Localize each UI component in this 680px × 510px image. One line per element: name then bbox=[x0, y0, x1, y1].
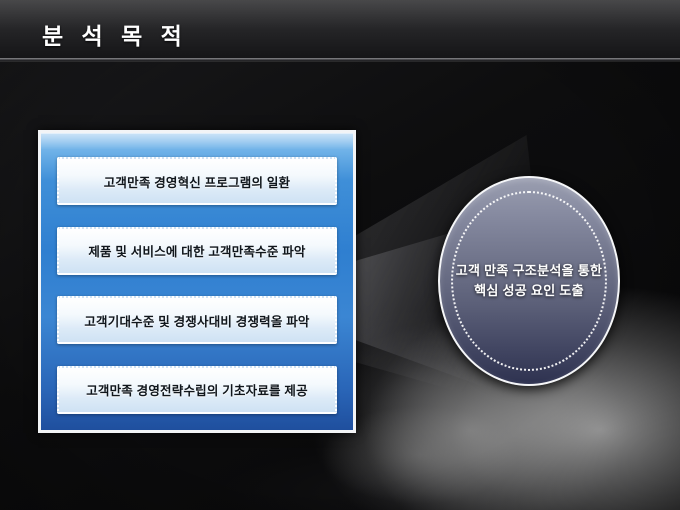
callout-text: 고객 만족 구조분석올 통한 핵심 성공 요인 도출 bbox=[449, 261, 609, 301]
list-item-label: 제품 및 서비스에 대한 고객만족수준 파악 bbox=[88, 241, 305, 260]
objectives-panel: 고객만족 경영혁신 프로그램의 일환 제품 및 서비스에 대한 고객만족수준 파… bbox=[38, 130, 356, 433]
list-item[interactable]: 고객기대수준 및 경쟁사대비 경쟁력올 파악 bbox=[57, 296, 337, 344]
list-item[interactable]: 제품 및 서비스에 대한 고객만족수준 파악 bbox=[57, 227, 337, 275]
header-divider-highlight bbox=[0, 61, 680, 62]
panel-gloss bbox=[41, 133, 353, 149]
list-item-label: 고객기대수준 및 경쟁사대비 경쟁력올 파악 bbox=[84, 311, 309, 330]
list-item-label: 고객만족 경영혁신 프로그램의 일환 bbox=[104, 172, 291, 191]
page-title: 분 석 목 적 bbox=[42, 17, 188, 51]
list-item-label: 고객만족 경영전략수립의 기초자료를 제공 bbox=[86, 380, 308, 399]
list-item[interactable]: 고객만족 경영전략수립의 기초자료를 제공 bbox=[57, 366, 337, 414]
list-item[interactable]: 고객만족 경영혁신 프로그램의 일환 bbox=[57, 157, 337, 205]
presentation-slide: 분 석 목 적 고객만족 경영혁신 프로그램의 일환 제품 및 서비스에 대한 … bbox=[0, 0, 680, 510]
conclusion-callout[interactable]: 고객 만족 구조분석올 통한 핵심 성공 요인 도출 bbox=[438, 176, 620, 386]
